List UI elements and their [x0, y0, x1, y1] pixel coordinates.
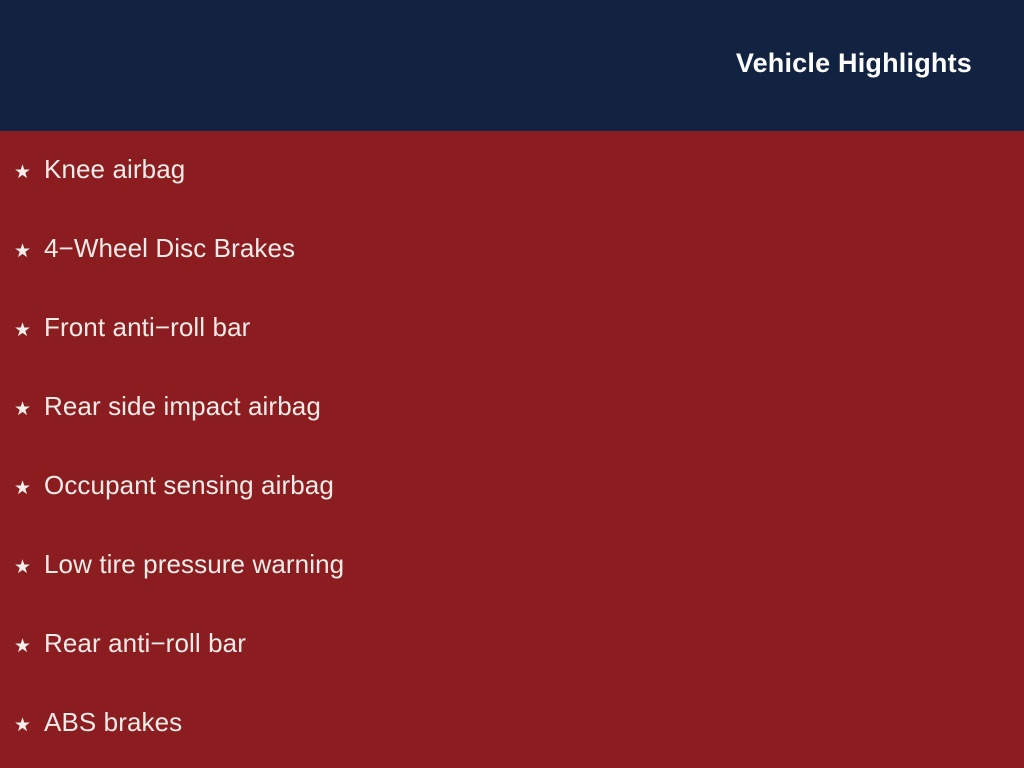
highlight-item: ★Rear side impact airbag	[14, 391, 321, 427]
highlight-item: ★Knee airbag	[14, 154, 185, 190]
highlight-item-label: Rear anti−roll bar	[44, 628, 246, 658]
vehicle-highlights-list: ★Knee airbag★4−Wheel Disc Brakes★Front a…	[0, 131, 1024, 768]
highlight-item: ★Rear anti−roll bar	[14, 628, 246, 664]
highlight-item: ★Low tire pressure warning	[14, 549, 344, 585]
header-band: Vehicle Highlights	[0, 0, 1024, 131]
highlight-item: ★4−Wheel Disc Brakes	[14, 233, 295, 269]
highlight-item-label: 4−Wheel Disc Brakes	[44, 233, 295, 263]
star-bullet-icon: ★	[14, 711, 44, 741]
star-bullet-icon: ★	[14, 395, 44, 425]
star-bullet-icon: ★	[14, 474, 44, 504]
highlight-item: ★ABS brakes	[14, 707, 182, 743]
highlight-item-label: Rear side impact airbag	[44, 391, 321, 421]
highlight-item: ★Occupant sensing airbag	[14, 470, 334, 506]
star-bullet-icon: ★	[14, 316, 44, 346]
highlight-item-label: Low tire pressure warning	[44, 549, 344, 579]
highlight-item-label: Knee airbag	[44, 154, 185, 184]
highlight-item-label: ABS brakes	[44, 707, 182, 737]
star-bullet-icon: ★	[14, 158, 44, 188]
star-bullet-icon: ★	[14, 632, 44, 662]
star-bullet-icon: ★	[14, 237, 44, 267]
highlight-item: ★Front anti−roll bar	[14, 312, 250, 348]
vehicle-highlights-slide: Vehicle Highlights ★Knee airbag★4−Wheel …	[0, 0, 1024, 768]
highlight-item-label: Occupant sensing airbag	[44, 470, 334, 500]
highlight-item-label: Front anti−roll bar	[44, 312, 250, 342]
star-bullet-icon: ★	[14, 553, 44, 583]
page-title: Vehicle Highlights	[736, 47, 972, 79]
